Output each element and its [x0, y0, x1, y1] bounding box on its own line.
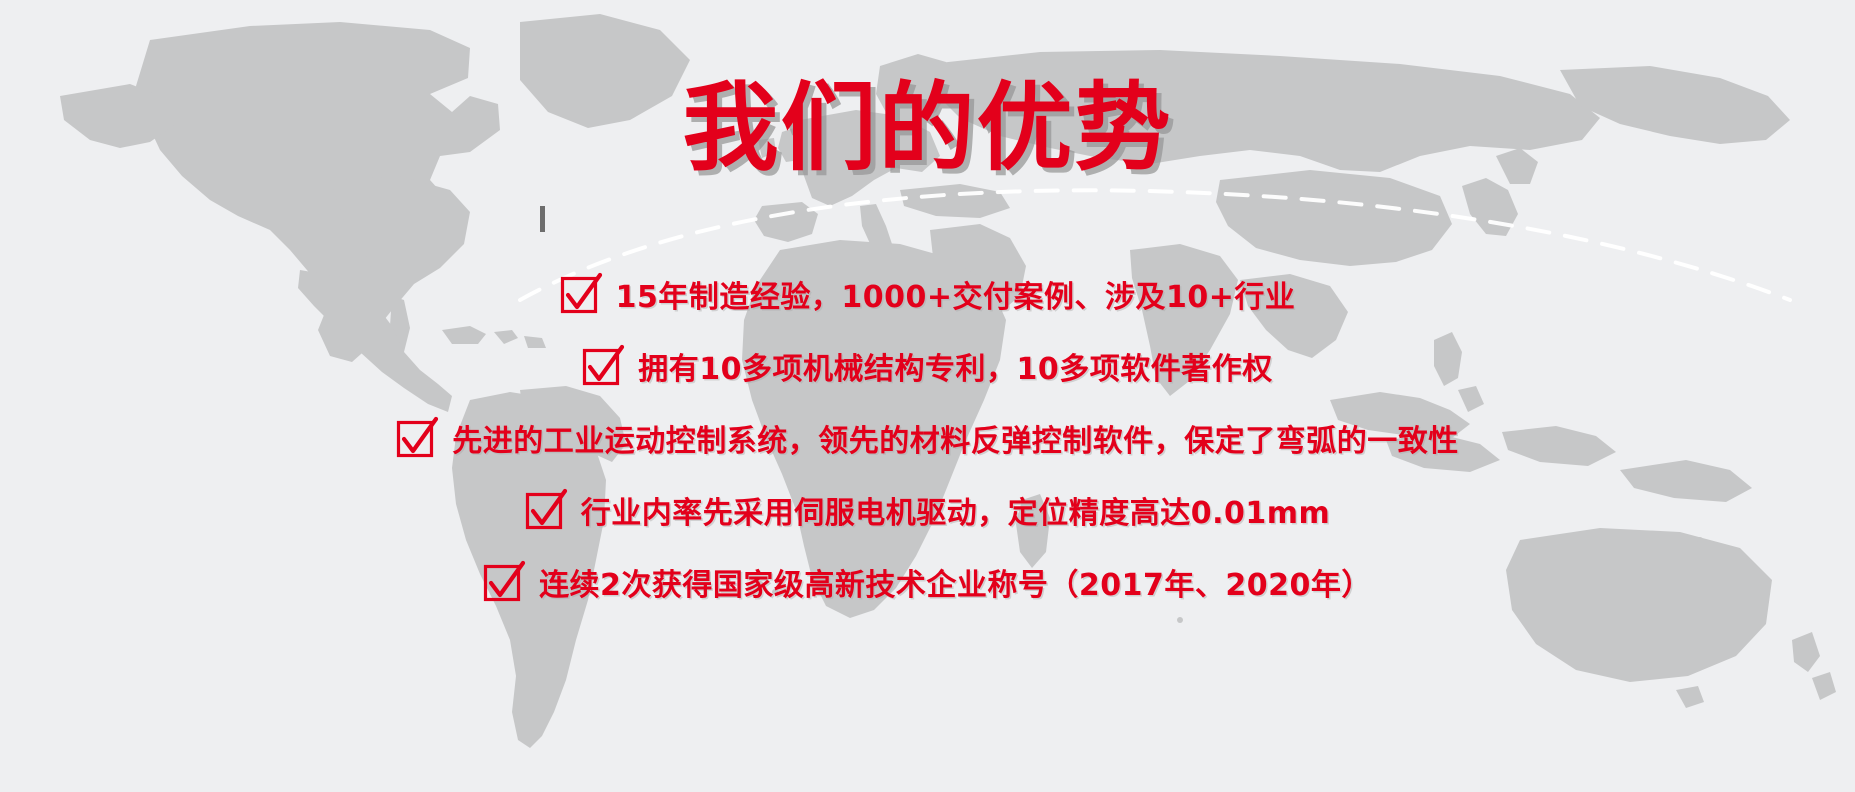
advantages-banner: 我们的优势 15年制造经验，1000+交付案例、涉及10+行业 [0, 0, 1855, 792]
checkbox-checked-icon [582, 346, 622, 386]
checkbox-checked-icon [525, 490, 565, 530]
list-item: 拥有10多项机械结构专利，10多项软件著作权 [582, 330, 1273, 402]
list-item: 行业内率先采用伺服电机驱动，定位精度高达0.01mm [525, 474, 1331, 546]
list-item: 15年制造经验，1000+交付案例、涉及10+行业 [560, 258, 1296, 330]
list-item-label: 拥有10多项机械结构专利，10多项软件著作权 [638, 344, 1273, 388]
checkbox-checked-icon [396, 418, 436, 458]
list-item: 先进的工业运动控制系统，领先的材料反弹控制软件，保定了弯弧的一致性 [396, 402, 1459, 474]
advantages-list: 15年制造经验，1000+交付案例、涉及10+行业 拥有10多项机械结构专利，1… [0, 258, 1855, 618]
list-item-label: 行业内率先采用伺服电机驱动，定位精度高达0.01mm [581, 488, 1331, 532]
list-item-label: 先进的工业运动控制系统，领先的材料反弹控制软件，保定了弯弧的一致性 [452, 416, 1459, 460]
page-title: 我们的优势 [0, 78, 1855, 179]
list-item-label: 15年制造经验，1000+交付案例、涉及10+行业 [616, 272, 1296, 316]
checkbox-checked-icon [560, 274, 600, 314]
list-item: 连续2次获得国家级高新技术企业称号（2017年、2020年） [483, 546, 1372, 618]
list-item-label: 连续2次获得国家级高新技术企业称号（2017年、2020年） [539, 560, 1372, 604]
checkbox-checked-icon [483, 562, 523, 602]
